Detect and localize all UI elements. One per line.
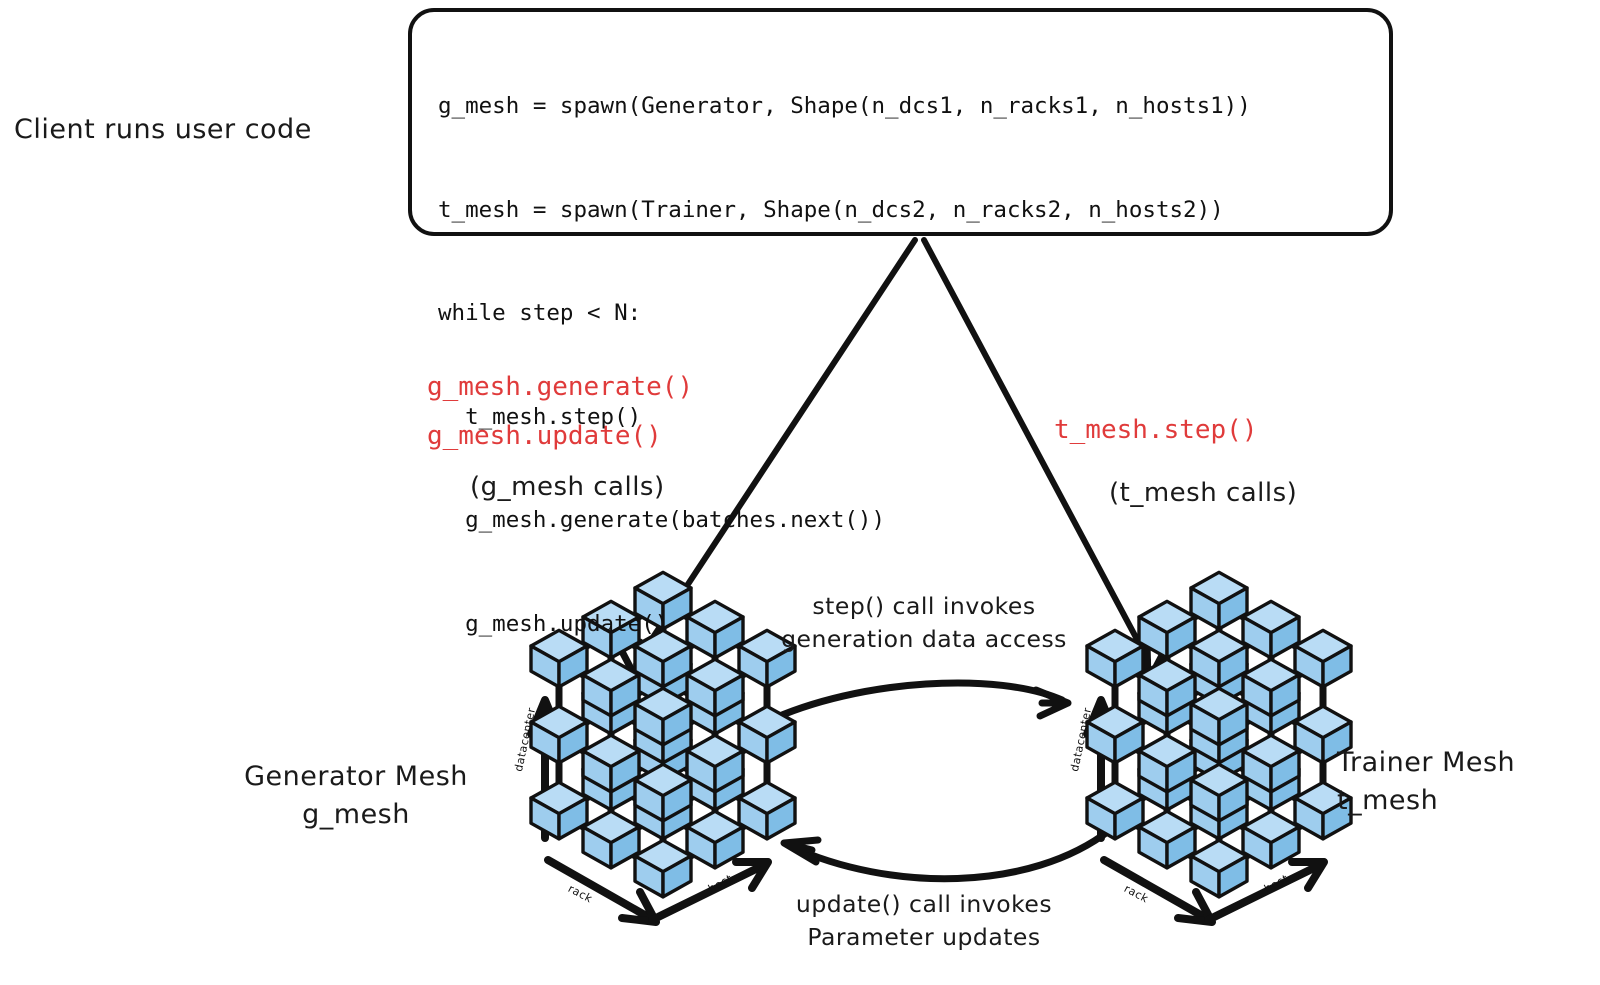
g-mesh-calls-subtitle: (g_mesh calls) (470, 472, 665, 502)
step-call-note-line-2: generation data access (744, 623, 1104, 656)
update-call-note-line-1: update() call invokes (744, 888, 1104, 921)
generator-mesh-variable: g_mesh (216, 796, 496, 834)
generator-mesh-name: Generator Mesh (216, 758, 496, 796)
update-call-note: update() call invokes Parameter updates (744, 888, 1104, 954)
flow-arrow-parameter-updates (784, 830, 1110, 879)
code-line-2: t_mesh = spawn(Trainer, Shape(n_dcs2, n_… (438, 193, 1388, 228)
trainer-mesh-variable: t_mesh (1337, 782, 1597, 820)
code-line-5: g_mesh.generate(batches.next()) (438, 503, 1388, 538)
g-mesh-update-call-label: g_mesh.update() (427, 421, 662, 451)
g-mesh-generate-call-label: g_mesh.generate() (427, 372, 693, 402)
diagram-canvas: g_mesh = spawn(Generator, Shape(n_dcs1, … (0, 0, 1600, 985)
t-mesh-calls-subtitle: (t_mesh calls) (1109, 478, 1297, 508)
generator-mesh-caption: Generator Mesh g_mesh (216, 758, 496, 834)
client-runs-user-code-label: Client runs user code (14, 114, 312, 145)
trainer-mesh-caption: Trainer Mesh t_mesh (1337, 744, 1597, 820)
step-call-note: step() call invokes generation data acce… (744, 590, 1104, 656)
trainer-mesh-name: Trainer Mesh (1337, 744, 1597, 782)
update-call-note-line-2: Parameter updates (744, 921, 1104, 954)
step-call-note-line-1: step() call invokes (744, 590, 1104, 623)
t-mesh-step-call-label: t_mesh.step() (1054, 415, 1258, 445)
code-line-1: g_mesh = spawn(Generator, Shape(n_dcs1, … (438, 89, 1388, 124)
code-line-3: while step < N: (438, 296, 1388, 331)
